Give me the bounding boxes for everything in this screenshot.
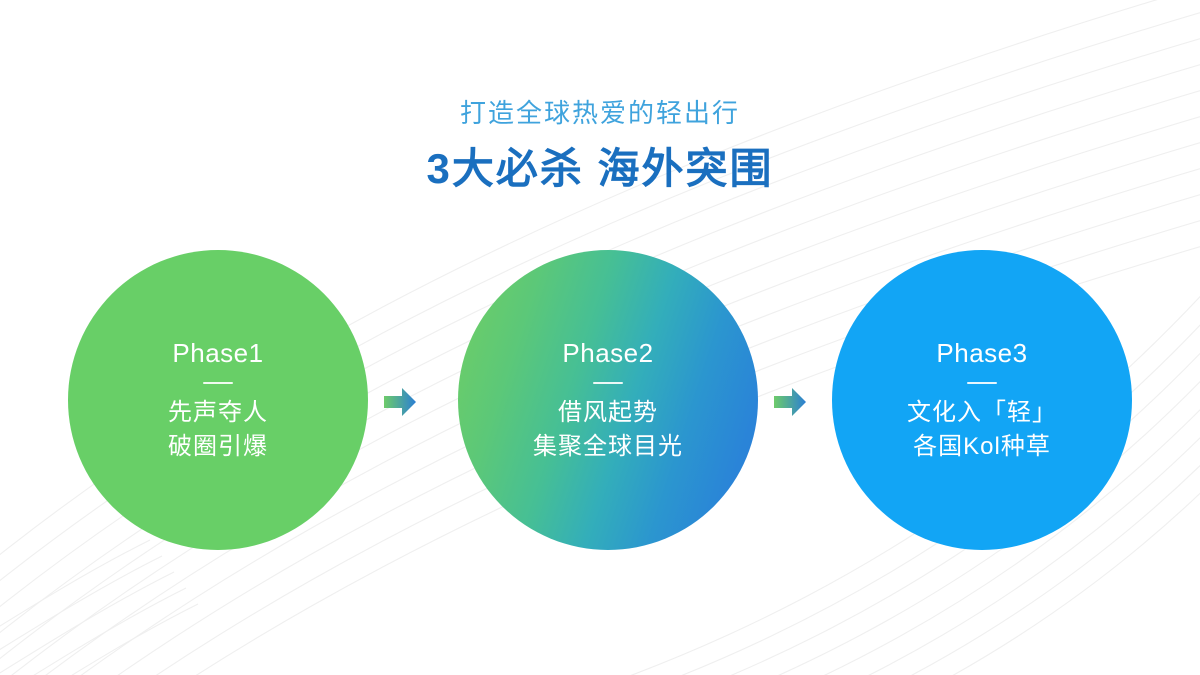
phase-2-desc-line-2: 集聚全球目光 [533, 430, 683, 464]
arrow-right-icon [772, 386, 808, 418]
phase-1-divider [203, 382, 233, 384]
phase-2-divider [593, 382, 623, 384]
slide-canvas: 打造全球热爱的轻出行 3大必杀 海外突围 Phase1 先声夺人 破圈引爆 Ph… [0, 0, 1200, 675]
phase-circle-2[interactable]: Phase2 借风起势 集聚全球目光 [458, 250, 758, 550]
header-block: 打造全球热爱的轻出行 3大必杀 海外突围 [0, 96, 1200, 196]
phase-2-name: Phase2 [562, 337, 653, 369]
page-title: 3大必杀 海外突围 [0, 142, 1200, 196]
swirl-arc-group-left-tail [0, 540, 198, 675]
arrow-right-icon [382, 386, 418, 418]
phase-3-desc-line-2: 各国Kol种草 [913, 430, 1051, 464]
phase-3-desc-line-1: 文化入「轻」 [907, 396, 1057, 430]
phase-3-divider [967, 382, 997, 384]
phase-3-name: Phase3 [936, 337, 1027, 369]
phase-circle-3[interactable]: Phase3 文化入「轻」 各国Kol种草 [832, 250, 1132, 550]
phase-1-name: Phase1 [172, 337, 263, 369]
phase-circle-1[interactable]: Phase1 先声夺人 破圈引爆 [68, 250, 368, 550]
phase-1-desc-line-2: 破圈引爆 [168, 430, 268, 464]
phase-1-desc-line-1: 先声夺人 [168, 396, 268, 430]
phase-row: Phase1 先声夺人 破圈引爆 Phase2 借风起势 集聚全球目光 Phas… [0, 250, 1200, 550]
phase-2-desc-line-1: 借风起势 [558, 396, 658, 430]
page-subtitle: 打造全球热爱的轻出行 [0, 96, 1200, 130]
